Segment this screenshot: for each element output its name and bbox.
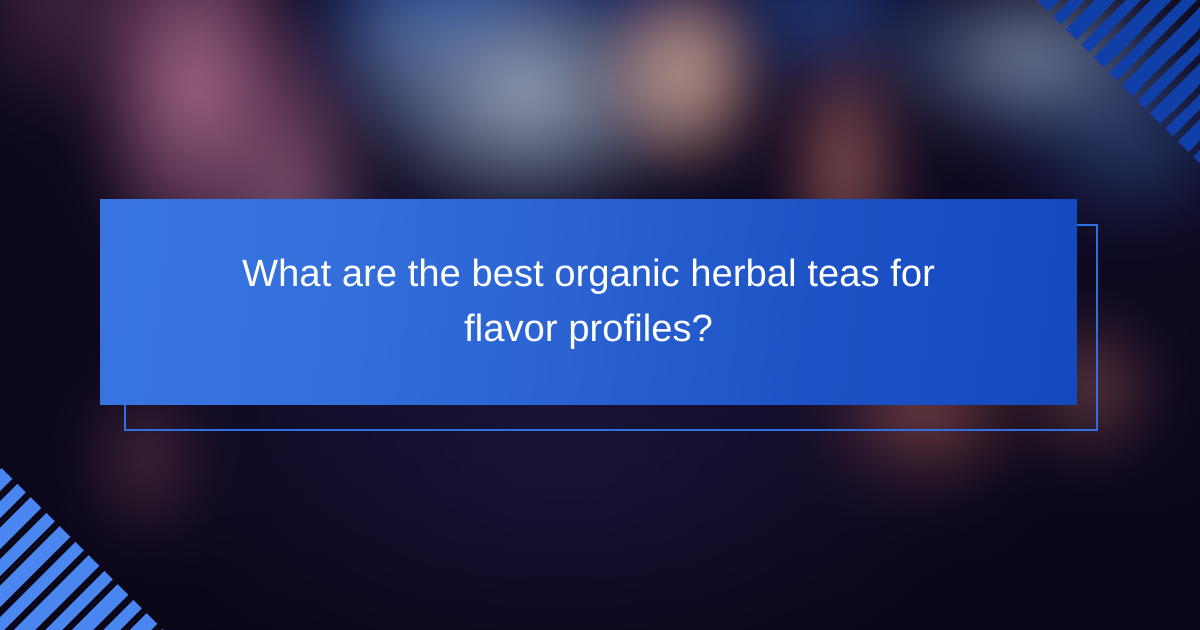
page-title: What are the best organic herbal teas fo… xyxy=(239,247,939,356)
social-card-canvas: What are the best organic herbal teas fo… xyxy=(0,0,1200,630)
dashed-diagonal-corner-top-right xyxy=(1030,0,1200,170)
question-card: What are the best organic herbal teas fo… xyxy=(100,199,1077,405)
dashed-diagonal-corner-bottom-left xyxy=(0,460,170,630)
